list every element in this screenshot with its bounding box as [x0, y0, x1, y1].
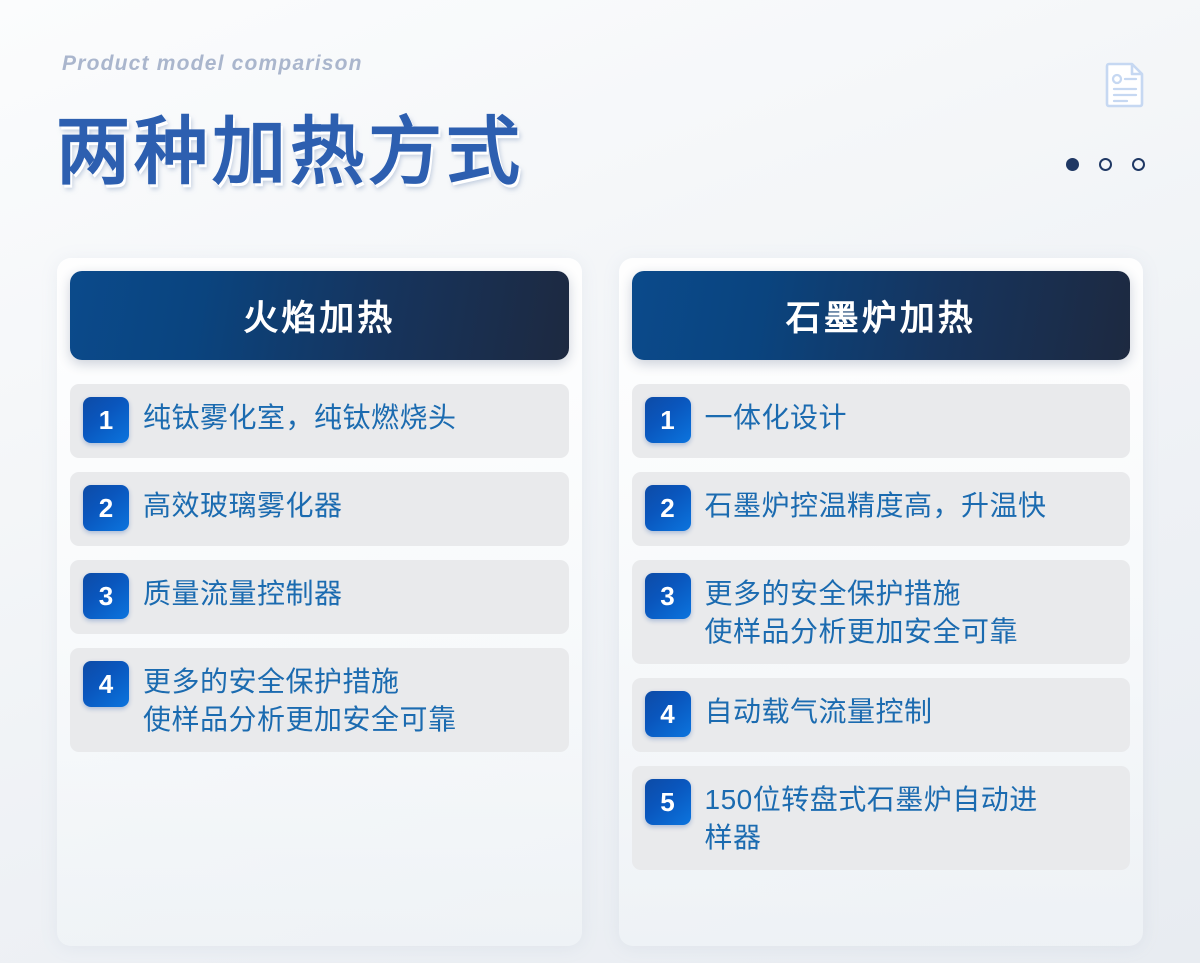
item-number-badge: 4	[645, 691, 691, 737]
list-item[interactable]: 2 石墨炉控温精度高，升温快	[632, 472, 1131, 546]
list-item[interactable]: 1 纯钛雾化室，纯钛燃烧头	[70, 384, 569, 458]
item-number-badge: 5	[645, 779, 691, 825]
feature-list-flame: 1 纯钛雾化室，纯钛燃烧头 2 高效玻璃雾化器 3 质量流量控制器 4 更多的安…	[70, 384, 569, 752]
item-number-badge: 4	[83, 661, 129, 707]
eyebrow-label: Product model comparison	[62, 52, 363, 76]
feature-list-graphite: 1 一体化设计 2 石墨炉控温精度高，升温快 3 更多的安全保护措施 使样品分析…	[632, 384, 1131, 870]
list-item[interactable]: 5 150位转盘式石墨炉自动进 样器	[632, 766, 1131, 870]
comparison-columns: 火焰加热 1 纯钛雾化室，纯钛燃烧头 2 高效玻璃雾化器 3 质量流量控制器 4…	[0, 258, 1200, 958]
list-item[interactable]: 4 更多的安全保护措施 使样品分析更加安全可靠	[70, 648, 569, 752]
item-number-badge: 2	[83, 485, 129, 531]
item-number-badge: 3	[83, 573, 129, 619]
item-label: 一体化设计	[705, 397, 848, 437]
item-label: 石墨炉控温精度高，升温快	[705, 485, 1047, 525]
item-number-badge: 1	[83, 397, 129, 443]
item-number-badge: 3	[645, 573, 691, 619]
comparison-panel-graphite: 石墨炉加热 1 一体化设计 2 石墨炉控温精度高，升温快 3 更多的安全保护措施…	[619, 258, 1144, 946]
pagination-dot-2[interactable]	[1099, 158, 1112, 171]
item-label: 高效玻璃雾化器	[143, 485, 343, 525]
panel-heading-label: 火焰加热	[243, 290, 395, 341]
list-item[interactable]: 2 高效玻璃雾化器	[70, 472, 569, 546]
item-label: 纯钛雾化室，纯钛燃烧头	[143, 397, 457, 437]
item-label: 150位转盘式石墨炉自动进 样器	[705, 779, 1038, 857]
panel-heading-label: 石墨炉加热	[786, 290, 976, 341]
comparison-panel-flame: 火焰加热 1 纯钛雾化室，纯钛燃烧头 2 高效玻璃雾化器 3 质量流量控制器 4…	[57, 258, 582, 946]
item-label: 更多的安全保护措施 使样品分析更加安全可靠	[143, 661, 457, 739]
item-number-badge: 2	[645, 485, 691, 531]
item-label: 质量流量控制器	[143, 573, 343, 613]
panel-heading-flame: 火焰加热	[70, 271, 569, 360]
panel-heading-graphite: 石墨炉加热	[632, 271, 1131, 360]
pagination-dot-3[interactable]	[1132, 158, 1145, 171]
document-icon	[1105, 62, 1145, 108]
list-item[interactable]: 1 一体化设计	[632, 384, 1131, 458]
list-item[interactable]: 4 自动载气流量控制	[632, 678, 1131, 752]
list-item[interactable]: 3 更多的安全保护措施 使样品分析更加安全可靠	[632, 560, 1131, 664]
item-number-badge: 1	[645, 397, 691, 443]
list-item[interactable]: 3 质量流量控制器	[70, 560, 569, 634]
item-label: 更多的安全保护措施 使样品分析更加安全可靠	[705, 573, 1019, 651]
pagination-dot-1[interactable]	[1066, 158, 1079, 171]
page-title: 两种加热方式	[56, 92, 524, 199]
slide-header: Product model comparison 两种加热方式	[0, 0, 1200, 240]
pagination-dots[interactable]	[1066, 158, 1145, 171]
item-label: 自动载气流量控制	[705, 691, 933, 731]
